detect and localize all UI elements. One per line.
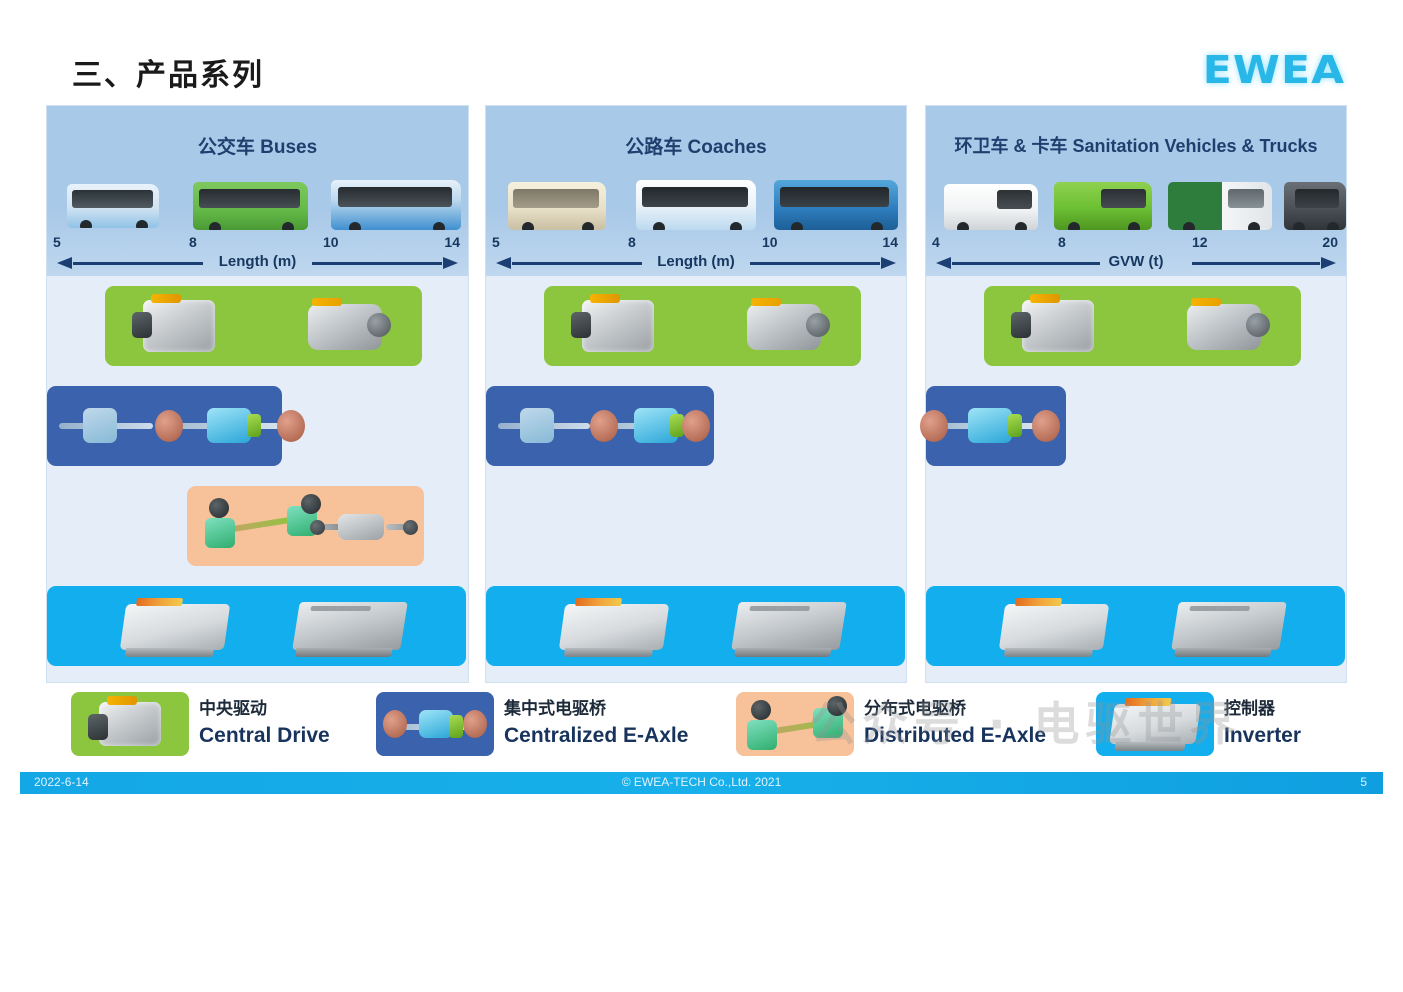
column-coaches: 公路车 Coaches bbox=[485, 105, 907, 683]
legend-label-cn: 分布式电驱桥 bbox=[864, 696, 1046, 722]
eaxle-wireframe-icon bbox=[490, 406, 598, 446]
eaxle-icon bbox=[383, 707, 487, 741]
band-inverter-buses bbox=[47, 586, 466, 666]
band-distributed-eaxle-buses bbox=[187, 486, 424, 566]
column-title-buses: 公交车 Buses bbox=[47, 132, 468, 159]
legend-label-cn: 中央驱动 bbox=[199, 696, 330, 722]
legend-label-en: Centralized E-Axle bbox=[504, 722, 688, 750]
vehicle-long-city-bus bbox=[331, 180, 461, 230]
axis-label-sanitation: GVW (t) bbox=[926, 253, 1346, 270]
inverter-large-icon bbox=[731, 602, 847, 650]
vehicle-small-city-bus bbox=[67, 184, 159, 228]
inverter-large-icon bbox=[1171, 602, 1287, 650]
eaxle-icon bbox=[155, 406, 305, 446]
vehicle-green-sanitation-truck bbox=[1054, 182, 1152, 230]
inverter-icon bbox=[999, 604, 1109, 650]
eaxle-wireframe-icon bbox=[51, 406, 161, 446]
band-central-drive-sanitation bbox=[984, 286, 1301, 366]
gearbox-icon bbox=[747, 304, 821, 350]
differential-icon bbox=[312, 504, 416, 550]
column-header-sanitation: 环卫车 & 卡车 Sanitation Vehicles & Trucks bbox=[926, 106, 1346, 276]
gearbox-icon bbox=[1187, 304, 1261, 350]
motor-icon bbox=[582, 300, 654, 352]
axis-ticks-sanitation: 4 8 12 20 bbox=[930, 234, 1342, 250]
distributed-eaxle-icon bbox=[743, 700, 847, 748]
inverter-large-icon bbox=[292, 602, 408, 650]
band-centralized-eaxle-sanitation bbox=[926, 386, 1066, 466]
footer-copyright: © EWEA-TECH Co.,Ltd. 2021 bbox=[20, 775, 1383, 789]
vehicle-minibus bbox=[508, 182, 606, 230]
slide-canvas: 三、产品系列 EWEA 公交车 Buses bbox=[0, 0, 1403, 800]
inverter-icon bbox=[120, 604, 230, 650]
distributed-eaxle-icon bbox=[201, 498, 321, 552]
vehicle-truck-cab bbox=[1284, 182, 1346, 230]
column-sanitation: 环卫车 & 卡车 Sanitation Vehicles & Trucks bbox=[925, 105, 1347, 683]
band-central-drive-coaches bbox=[544, 286, 861, 366]
vehicle-strip-buses bbox=[53, 158, 462, 234]
band-central-drive-buses bbox=[105, 286, 422, 366]
legend-label-cn: 集中式电驱桥 bbox=[504, 696, 688, 722]
band-inverter-coaches bbox=[486, 586, 905, 666]
column-header-coaches: 公路车 Coaches bbox=[486, 106, 906, 276]
gearbox-icon bbox=[308, 304, 382, 350]
inverter-icon bbox=[1109, 704, 1201, 744]
page-title: 三、产品系列 bbox=[72, 50, 264, 94]
legend-label-en: Distributed E-Axle bbox=[864, 722, 1046, 750]
motor-icon bbox=[99, 702, 161, 746]
motor-icon bbox=[143, 300, 215, 352]
eaxle-icon bbox=[920, 406, 1060, 446]
vehicle-strip-coaches bbox=[492, 158, 900, 234]
axis-label-buses: Length (m) bbox=[47, 253, 468, 270]
legend: 中央驱动 Central Drive 集中式电驱桥 Centralized E-… bbox=[46, 690, 1347, 768]
footer-page-number: 5 bbox=[1360, 775, 1367, 789]
vehicle-garbage-truck bbox=[1168, 182, 1272, 230]
legend-chip-central-drive bbox=[71, 692, 189, 756]
band-centralized-eaxle-buses bbox=[47, 386, 282, 466]
legend-chip-centralized-eaxle bbox=[376, 692, 494, 756]
axis-label-coaches: Length (m) bbox=[486, 253, 906, 270]
vehicle-white-coach bbox=[636, 180, 756, 230]
ewea-logo: EWEA bbox=[1202, 48, 1345, 92]
vehicle-strip-sanitation bbox=[932, 158, 1340, 234]
inverter-icon bbox=[559, 604, 669, 650]
vehicle-white-van bbox=[944, 184, 1038, 230]
axis-ticks-buses: 5 8 10 14 bbox=[51, 234, 464, 250]
motor-icon bbox=[1022, 300, 1094, 352]
vehicle-green-city-bus bbox=[193, 182, 308, 230]
legend-label-en: Central Drive bbox=[199, 722, 330, 750]
column-buses: 公交车 Buses bbox=[46, 105, 469, 683]
legend-chip-inverter bbox=[1096, 692, 1214, 756]
column-header-buses: 公交车 Buses bbox=[47, 106, 468, 276]
axis-ticks-coaches: 5 8 10 14 bbox=[490, 234, 902, 250]
eaxle-icon bbox=[590, 406, 710, 446]
footer-bar: 2022-6-14 © EWEA-TECH Co.,Ltd. 2021 5 bbox=[20, 772, 1383, 794]
column-title-coaches: 公路车 Coaches bbox=[486, 132, 906, 159]
legend-label-cn: 控制器 bbox=[1224, 696, 1301, 722]
legend-chip-distributed-eaxle bbox=[736, 692, 854, 756]
vehicle-blue-coach bbox=[774, 180, 898, 230]
band-centralized-eaxle-coaches bbox=[486, 386, 714, 466]
legend-label-en: Inverter bbox=[1224, 722, 1301, 750]
band-inverter-sanitation bbox=[926, 586, 1345, 666]
column-title-sanitation: 环卫车 & 卡车 Sanitation Vehicles & Trucks bbox=[926, 132, 1346, 158]
